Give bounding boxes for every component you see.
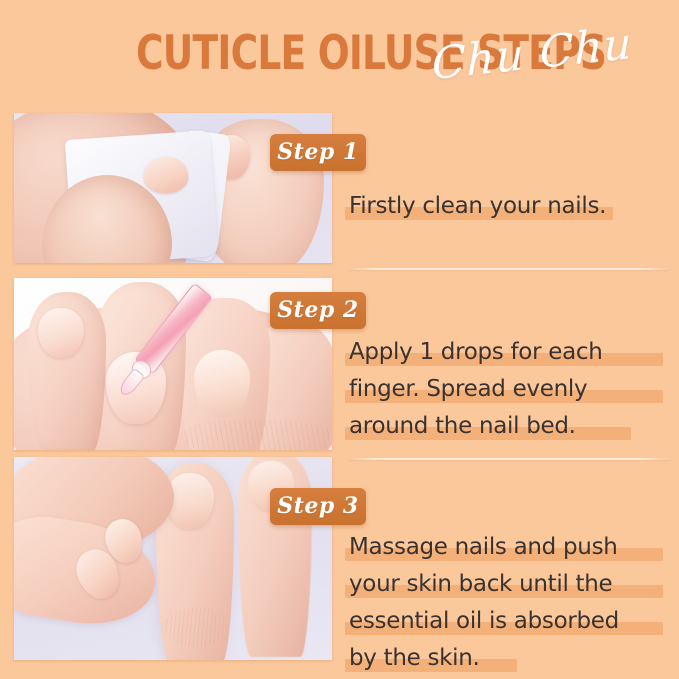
text-line: your skin back until the: [349, 568, 673, 602]
text-line: Massage nails and push: [349, 531, 673, 565]
text-line: Apply 1 drops for each: [349, 336, 673, 370]
skin-texture: [164, 607, 228, 647]
text-line: finger. Spread evenly: [349, 373, 673, 407]
step-badge-1: Step 1: [270, 134, 366, 171]
step-badge-1-label: Step 1: [270, 134, 366, 171]
text-line: around the nail bed.: [349, 410, 673, 444]
step-2-line-3: around the nail bed.: [349, 410, 673, 442]
step-badge-2-label: Step 2: [270, 292, 366, 329]
step-badge-3: Step 3: [270, 488, 366, 525]
skin-texture: [184, 420, 332, 450]
step-2-line-2: finger. Spread evenly: [349, 373, 673, 405]
step-3-text-block: Massage nails and push your skin back un…: [349, 531, 673, 679]
step-2-line-1: Apply 1 drops for each: [349, 336, 673, 368]
step-2-text-block: Apply 1 drops for each finger. Spread ev…: [349, 336, 673, 447]
step-3-line-3: essential oil is absorbed: [349, 605, 673, 637]
step-1-text-block: Firstly clean your nails.: [349, 190, 673, 227]
section-divider-2: [349, 458, 669, 460]
step-1-line-1: Firstly clean your nails.: [349, 190, 673, 222]
fingernail-shape: [144, 157, 188, 193]
step-3-line-2: your skin back until the: [349, 568, 673, 600]
step-3-line-4: by the skin.: [349, 642, 673, 674]
step-3-line-1: Massage nails and push: [349, 531, 673, 563]
fingernail-shape: [194, 350, 250, 418]
section-divider-1: [349, 268, 669, 270]
text-line: essential oil is absorbed: [349, 605, 673, 639]
fingernail-shape: [38, 308, 84, 358]
text-line: by the skin.: [349, 642, 673, 676]
step-badge-2: Step 2: [270, 292, 366, 329]
text-line: Firstly clean your nails.: [349, 190, 673, 224]
step-badge-3-label: Step 3: [270, 488, 366, 525]
infographic-page: CUTICLE OILUSE STEPS Chu Chu: [0, 0, 679, 679]
page-header: CUTICLE OILUSE STEPS Chu Chu: [0, 26, 679, 100]
